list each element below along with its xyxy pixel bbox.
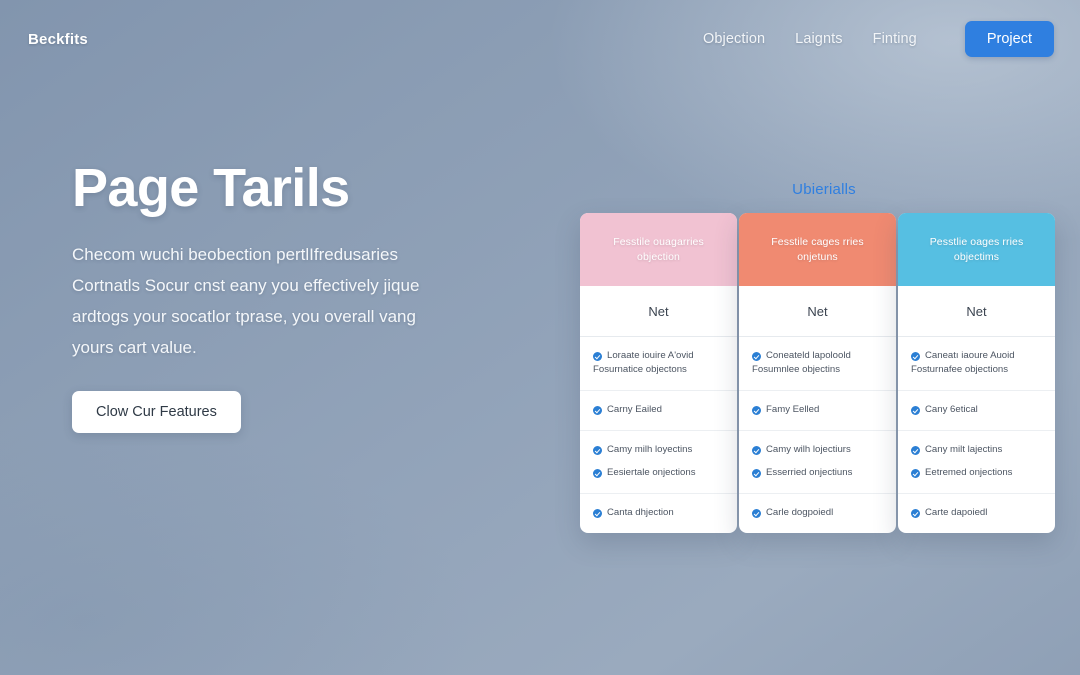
feature-group: Carny Eailed [580, 391, 737, 431]
hero-description-line-1: Checom wuchi beobection pertlIfredusarie… [72, 239, 532, 270]
feature-item: Carle dogpoiedl [752, 506, 883, 520]
card-2-header-line-2: onjetuns [797, 251, 838, 263]
feature-item: Coneateld lapoloold Fosumnlee objectins [752, 349, 883, 377]
feature-group: Camy wilh lojectiurs Esserried onjectiun… [739, 431, 896, 494]
pricing-card-2-features: Coneateld lapoloold Fosumnlee objectins … [739, 337, 896, 533]
check-icon [911, 352, 920, 361]
pricing-card-2-header: Fesstile cages rries onjetuns [739, 213, 896, 286]
hero-description-line-3: ardtogs your socatlor tprase, you overal… [72, 301, 532, 332]
feature-group: Cany milt lajectins Eetremed onjections [898, 431, 1055, 494]
feature-label: Cany milt lajectins [925, 443, 1002, 457]
pricing-card-3[interactable]: Pesstlie oages rries objectims Net Canea… [898, 213, 1055, 533]
feature-label: Coneateld lapoloold [766, 350, 851, 361]
feature-group: Famy Eelled [739, 391, 896, 431]
pricing-card-2[interactable]: Fesstile cages rries onjetuns Net Coneat… [739, 213, 896, 533]
check-icon [752, 446, 761, 455]
feature-item: Cany 6etical [911, 403, 1042, 417]
feature-label: Canta dhjection [607, 506, 674, 520]
hero-description: Checom wuchi beobection pertlIfredusarie… [72, 239, 532, 363]
check-icon [911, 469, 920, 478]
feature-label: Carle dogpoiedl [766, 506, 833, 520]
feature-item: Famy Eelled [752, 403, 883, 417]
card-3-header-line-2: objectims [954, 251, 999, 263]
pricing-card-3-header: Pesstlie oages rries objectims [898, 213, 1055, 286]
check-icon [593, 406, 602, 415]
hero-description-line-4: yours cart value. [72, 332, 532, 363]
show-features-button[interactable]: Clow Cur Features [72, 391, 241, 433]
feature-item: Cany milt lajectins [911, 443, 1042, 457]
card-2-header-line-1: Fesstile cages rries [771, 236, 863, 248]
feature-item: Canta dhjection [593, 506, 724, 520]
feature-item: Carte dapoiedl [911, 506, 1042, 520]
pricing-card-1-price: Net [580, 286, 737, 337]
pricing-card-1-features: Loraate iouire A'ovid Fosurnatice object… [580, 337, 737, 533]
feature-item: Esserried onjectiuns [752, 466, 883, 480]
check-icon [593, 469, 602, 478]
feature-label: Loraate iouire A'ovid [607, 350, 694, 361]
feature-group: Carle dogpoiedl [739, 494, 896, 533]
nav-links: Objection Laignts Finting Project [703, 21, 1054, 57]
feature-label: Carny Eailed [607, 403, 662, 417]
card-1-header-line-1: Fesstile ouagarries [613, 236, 704, 248]
check-icon [593, 446, 602, 455]
feature-sublabel: Fosumnlee objectins [752, 363, 851, 377]
page-title: Page Tarils [72, 160, 532, 217]
nav-link-laignts[interactable]: Laignts [795, 31, 842, 47]
feature-sublabel: Fosturnafee objections [911, 363, 1015, 377]
project-button[interactable]: Project [965, 21, 1054, 57]
feature-label: Esserried onjectiuns [766, 466, 852, 480]
feature-group: Coneateld lapoloold Fosumnlee objectins [739, 337, 896, 391]
feature-text: Caneatı iaoure Auoid Fosturnafee objecti… [925, 349, 1015, 377]
feature-text: Coneateld lapoloold Fosumnlee objectins [766, 349, 851, 377]
feature-group: Canta dhjection [580, 494, 737, 533]
feature-group: Camy milh loyectins Eesiertale onjection… [580, 431, 737, 494]
landing-page: Beckfits Objection Laignts Finting Proje… [0, 0, 1080, 675]
check-icon [593, 352, 602, 361]
feature-label: Caneatı iaoure Auoid [925, 350, 1015, 361]
feature-group: Caneatı iaoure Auoid Fosturnafee objecti… [898, 337, 1055, 391]
feature-label: Camy wilh lojectiurs [766, 443, 851, 457]
check-icon [752, 352, 761, 361]
pricing-cards: Fesstile ouagarries objection Net Loraat… [580, 213, 1068, 533]
feature-label: Camy milh loyectins [607, 443, 692, 457]
navbar: Beckfits Objection Laignts Finting Proje… [0, 0, 1080, 78]
feature-label: Famy Eelled [766, 403, 819, 417]
feature-sublabel: Fosurnatice objectons [593, 363, 694, 377]
pricing-card-1[interactable]: Fesstile ouagarries objection Net Loraat… [580, 213, 737, 533]
check-icon [593, 509, 602, 518]
feature-label: Cany 6etical [925, 403, 978, 417]
nav-link-finting[interactable]: Finting [873, 31, 917, 47]
check-icon [911, 446, 920, 455]
pricing-card-3-price: Net [898, 286, 1055, 337]
feature-label: Carte dapoiedl [925, 506, 987, 520]
check-icon [911, 406, 920, 415]
feature-item: Caneatı iaoure Auoid Fosturnafee objecti… [911, 349, 1042, 377]
pricing-card-3-features: Caneatı iaoure Auoid Fosturnafee objecti… [898, 337, 1055, 533]
feature-label: Eetremed onjections [925, 466, 1012, 480]
feature-item: Camy milh loyectins [593, 443, 724, 457]
card-3-header-line-1: Pesstlie oages rries [930, 236, 1024, 248]
nav-link-objection[interactable]: Objection [703, 31, 765, 47]
feature-group: Carte dapoiedl [898, 494, 1055, 533]
feature-item: Eetremed onjections [911, 466, 1042, 480]
feature-item: Carny Eailed [593, 403, 724, 417]
feature-item: Camy wilh lojectiurs [752, 443, 883, 457]
brand-logo[interactable]: Beckfits [28, 31, 88, 48]
feature-label: Eesiertale onjections [607, 466, 696, 480]
pricing-card-2-price: Net [739, 286, 896, 337]
feature-text: Loraate iouire A'ovid Fosurnatice object… [607, 349, 694, 377]
check-icon [752, 406, 761, 415]
feature-item: Eesiertale onjections [593, 466, 724, 480]
check-icon [752, 469, 761, 478]
pricing-card-1-header: Fesstile ouagarries objection [580, 213, 737, 286]
pricing-section-label: Ubierialls [580, 181, 1068, 198]
feature-group: Cany 6etical [898, 391, 1055, 431]
hero-description-line-2: Cortnatls Socur cnst eany you effectivel… [72, 270, 532, 301]
card-1-header-line-2: objection [637, 251, 680, 263]
check-icon [752, 509, 761, 518]
feature-group: Loraate iouire A'ovid Fosurnatice object… [580, 337, 737, 391]
feature-item: Loraate iouire A'ovid Fosurnatice object… [593, 349, 724, 377]
check-icon [911, 509, 920, 518]
hero-section: Page Tarils Checom wuchi beobection pert… [72, 160, 532, 433]
